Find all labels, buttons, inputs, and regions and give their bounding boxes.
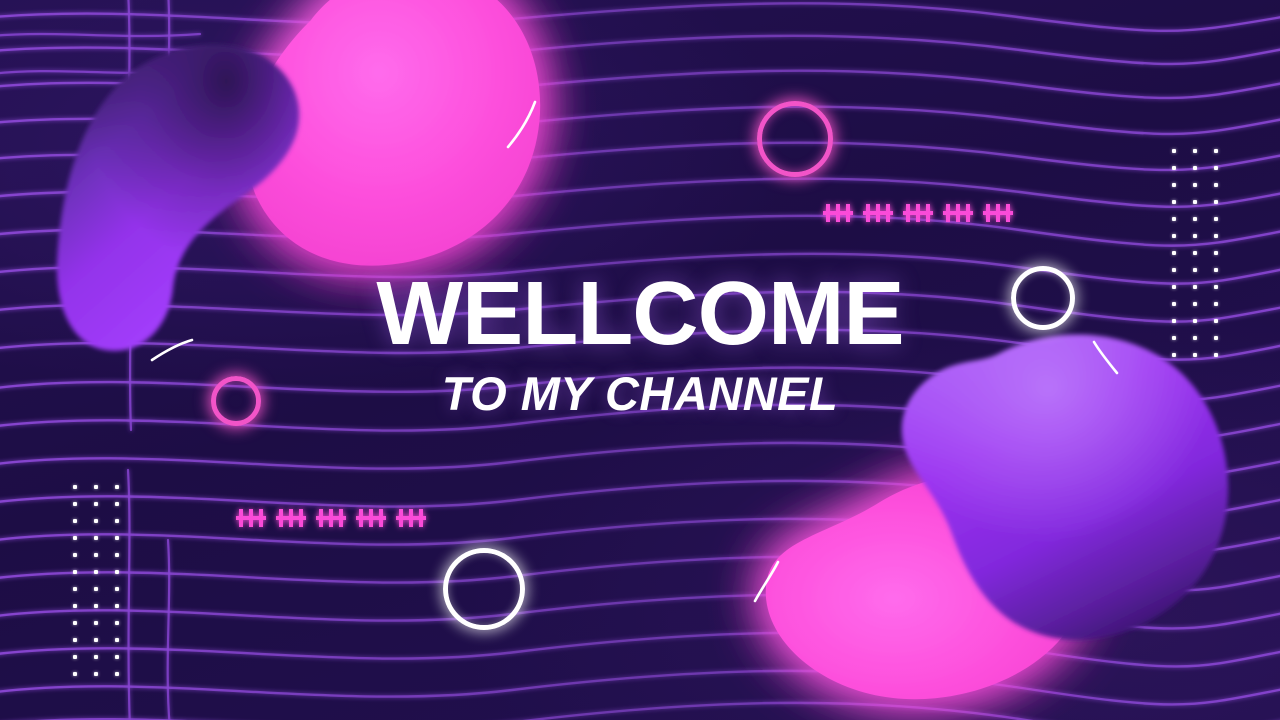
grid-dot xyxy=(73,638,77,642)
ring-white-right xyxy=(1011,266,1075,330)
grid-dot xyxy=(1214,251,1218,255)
grid-dot xyxy=(73,587,77,591)
arc-bottom-right xyxy=(1090,340,1120,376)
grid-dot xyxy=(1193,302,1197,306)
grid-dot xyxy=(94,655,98,659)
grid-dot xyxy=(1193,285,1197,289)
dot-grid-right xyxy=(1163,142,1226,363)
grid-dot xyxy=(1214,217,1218,221)
grid-dot xyxy=(73,621,77,625)
ring-pink-top xyxy=(757,101,833,177)
grid-dot xyxy=(1193,353,1197,357)
grid-dot xyxy=(1172,183,1176,187)
grid-dot xyxy=(1193,149,1197,153)
grid-dot xyxy=(1172,200,1176,204)
grid-dot xyxy=(1214,319,1218,323)
grid-dot xyxy=(94,553,98,557)
grid-dot xyxy=(94,672,98,676)
grid-dot xyxy=(1172,353,1176,357)
grid-dot xyxy=(115,570,119,574)
grid-dot xyxy=(1214,166,1218,170)
grid-dot xyxy=(1172,166,1176,170)
grid-dot xyxy=(94,604,98,608)
grid-dot xyxy=(1193,234,1197,238)
grid-dot xyxy=(1214,200,1218,204)
grid-dot xyxy=(1172,302,1176,306)
grid-dot xyxy=(115,502,119,506)
grid-dot xyxy=(1193,251,1197,255)
grid-dot xyxy=(1172,336,1176,340)
grid-dot xyxy=(73,502,77,506)
welcome-banner: WELLCOME TO MY CHANNEL xyxy=(0,0,1280,720)
grid-dot xyxy=(73,519,77,523)
ring-white-bottom xyxy=(443,548,525,630)
grid-dot xyxy=(94,536,98,540)
blob-purple-top-left xyxy=(55,20,405,370)
grid-dot xyxy=(1214,268,1218,272)
ring-pink-left xyxy=(211,376,261,426)
grid-dot xyxy=(1214,234,1218,238)
grid-dot xyxy=(94,502,98,506)
grid-dot xyxy=(1214,302,1218,306)
arc-top-right xyxy=(505,100,539,150)
tally-row-bottom xyxy=(236,503,436,533)
grid-dot xyxy=(1172,149,1176,153)
grid-dot xyxy=(1172,285,1176,289)
grid-dot xyxy=(1193,183,1197,187)
grid-dot xyxy=(115,553,119,557)
grid-dot xyxy=(73,485,77,489)
grid-dot xyxy=(1193,200,1197,204)
grid-dot xyxy=(115,604,119,608)
arc-top-left xyxy=(150,338,194,364)
grid-dot xyxy=(1172,251,1176,255)
grid-dot xyxy=(1172,319,1176,323)
grid-dot xyxy=(73,536,77,540)
grid-dot xyxy=(94,519,98,523)
blob-purple-bottom-right xyxy=(890,330,1280,660)
grid-dot xyxy=(1193,336,1197,340)
grid-dot xyxy=(1193,217,1197,221)
grid-dot xyxy=(115,587,119,591)
tally-row-top xyxy=(823,198,1023,228)
grid-dot xyxy=(1193,268,1197,272)
dot-grid-left xyxy=(64,478,127,682)
grid-dot xyxy=(73,655,77,659)
grid-dot xyxy=(73,604,77,608)
grid-dot xyxy=(1214,285,1218,289)
grid-dot xyxy=(115,519,119,523)
grid-dot xyxy=(1172,268,1176,272)
grid-dot xyxy=(1193,166,1197,170)
grid-dot xyxy=(1214,353,1218,357)
grid-dot xyxy=(94,570,98,574)
grid-dot xyxy=(1214,149,1218,153)
grid-dot xyxy=(73,672,77,676)
grid-dot xyxy=(94,621,98,625)
grid-dot xyxy=(115,485,119,489)
grid-dot xyxy=(94,485,98,489)
grid-dot xyxy=(115,638,119,642)
grid-dot xyxy=(115,536,119,540)
grid-dot xyxy=(1214,183,1218,187)
arc-bottom-left xyxy=(752,560,782,604)
grid-dot xyxy=(73,553,77,557)
grid-dot xyxy=(1193,319,1197,323)
grid-dot xyxy=(1214,336,1218,340)
grid-dot xyxy=(1172,234,1176,238)
grid-dot xyxy=(73,570,77,574)
grid-dot xyxy=(115,655,119,659)
grid-dot xyxy=(115,672,119,676)
grid-dot xyxy=(94,638,98,642)
grid-dot xyxy=(115,621,119,625)
grid-dot xyxy=(1172,217,1176,221)
grid-dot xyxy=(94,587,98,591)
